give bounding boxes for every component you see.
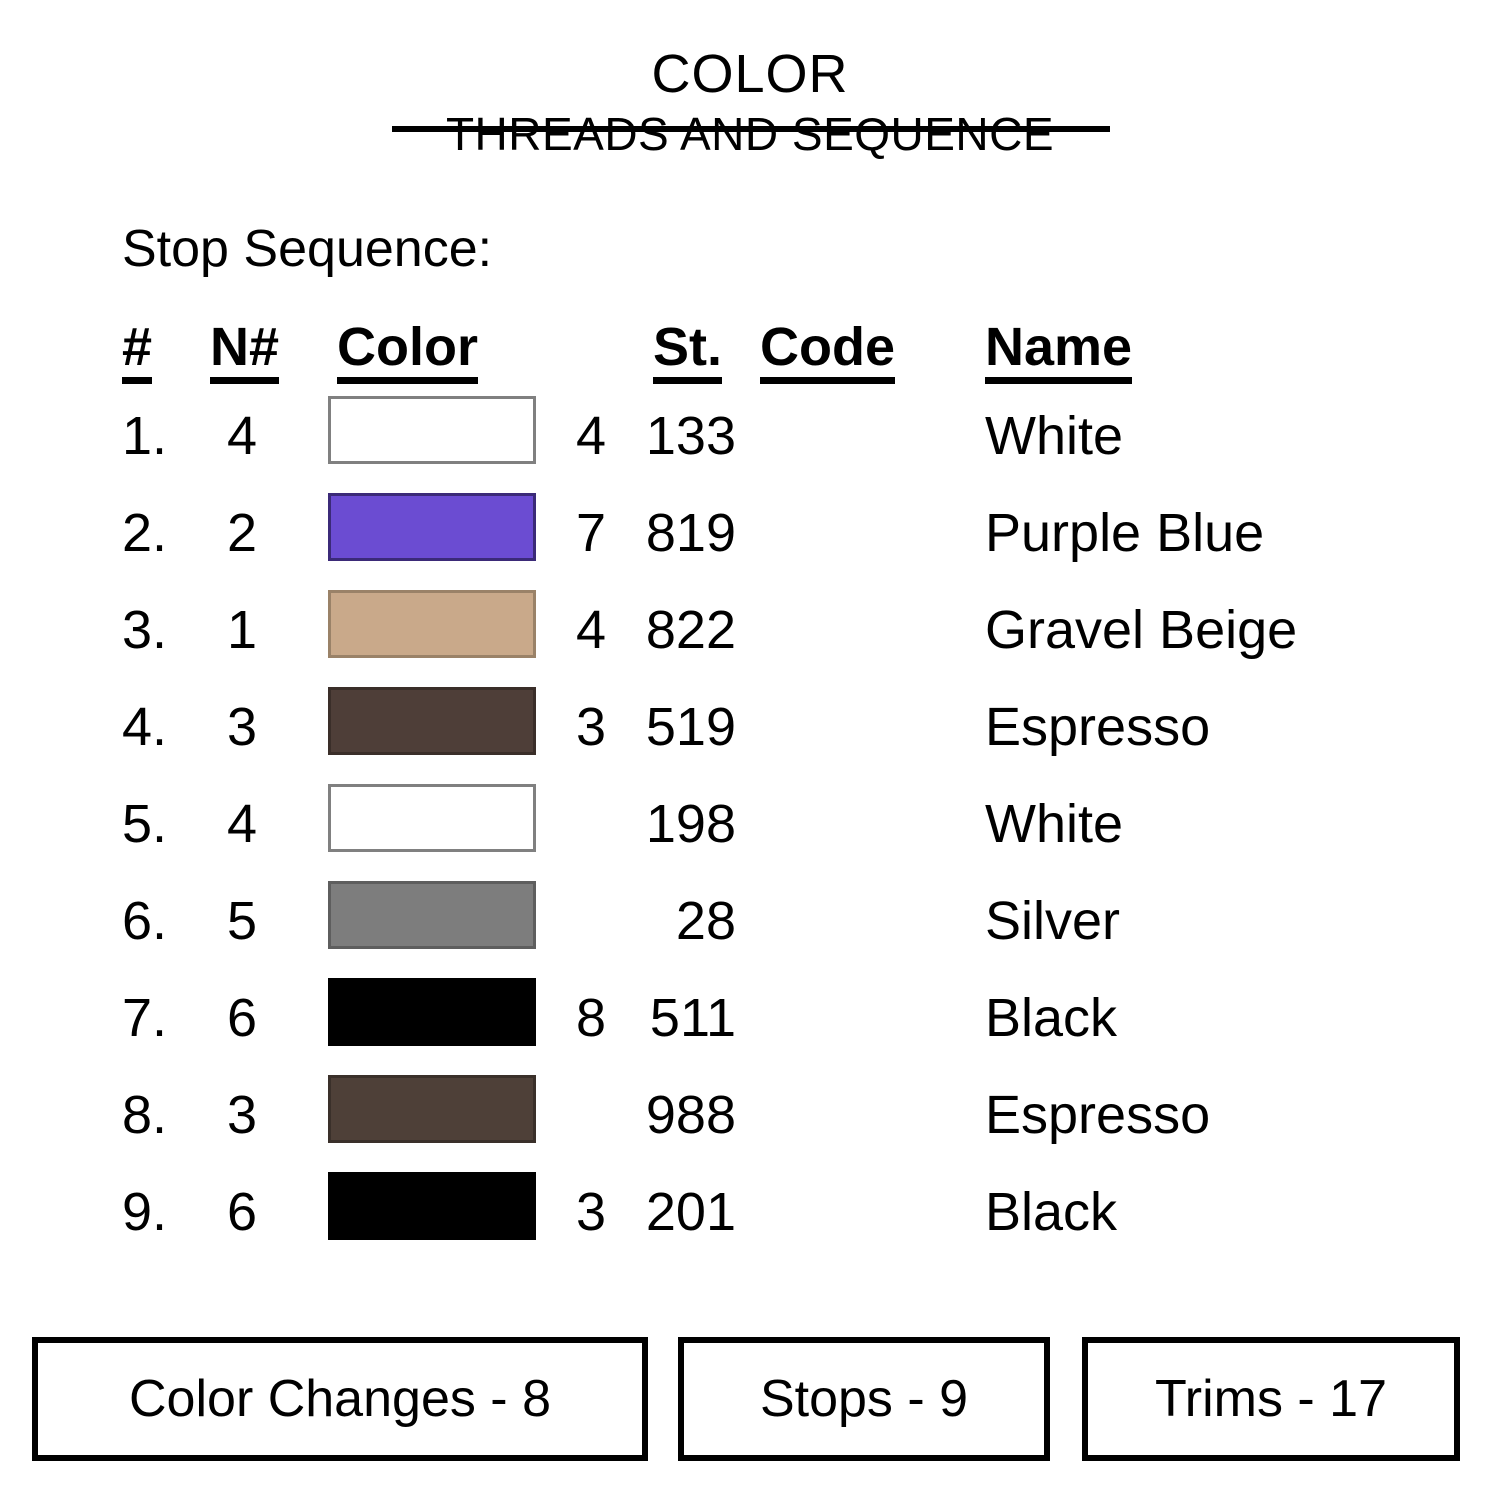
row-thread-code: 28	[560, 887, 736, 955]
row-needle-number: 3	[175, 1081, 257, 1149]
summary-bar: Color Changes - 8 Stops - 9 Trims - 17	[0, 1337, 1500, 1465]
row-color-name: White	[985, 402, 1485, 470]
summary-stops: Stops - 9	[678, 1337, 1050, 1461]
row-color-name: Black	[985, 1178, 1485, 1246]
column-header-needle: N#	[210, 318, 310, 384]
summary-trims: Trims - 17	[1082, 1337, 1460, 1461]
table-body: 1.44133White2.27819Purple Blue3.14822Gra…	[0, 390, 1500, 1263]
row-needle-number: 3	[175, 693, 257, 761]
row-needle-number: 4	[175, 790, 257, 858]
table-row: 9.63201Black	[0, 1166, 1500, 1263]
row-needle-number: 6	[175, 1178, 257, 1246]
table-row: 5.4198White	[0, 778, 1500, 875]
row-thread-code: 519	[560, 693, 736, 761]
row-thread-code: 201	[560, 1178, 736, 1246]
row-thread-code: 988	[560, 1081, 736, 1149]
table-header-row: # N# Color St. Code Name	[0, 318, 1500, 390]
color-swatch	[328, 784, 536, 852]
row-color-name: Espresso	[985, 1081, 1485, 1149]
row-color-name: Gravel Beige	[985, 596, 1485, 664]
row-needle-number: 5	[175, 887, 257, 955]
row-thread-code: 819	[560, 499, 736, 567]
row-thread-code: 133	[560, 402, 736, 470]
row-color-name: Purple Blue	[985, 499, 1485, 567]
row-needle-number: 6	[175, 984, 257, 1052]
column-header-name: Name	[985, 318, 1385, 384]
table-row: 8.3988Espresso	[0, 1069, 1500, 1166]
row-color-name: Black	[985, 984, 1485, 1052]
column-header-code: Code	[760, 318, 960, 384]
thread-sequence-table: # N# Color St. Code Name 1.44133White2.2…	[0, 318, 1500, 1263]
color-threads-sequence-sheet: COLOR THREADS AND SEQUENCE Stop Sequence…	[0, 0, 1500, 1500]
color-swatch	[328, 881, 536, 949]
row-thread-code: 822	[560, 596, 736, 664]
row-color-name: Silver	[985, 887, 1485, 955]
page-subtitle: THREADS AND SEQUENCE	[0, 106, 1500, 162]
stop-sequence-label: Stop Sequence:	[122, 218, 492, 280]
table-row: 2.27819Purple Blue	[0, 487, 1500, 584]
row-needle-number: 1	[175, 596, 257, 664]
column-header-index: #	[122, 318, 182, 384]
row-thread-code: 198	[560, 790, 736, 858]
column-header-stitches: St.	[540, 318, 722, 384]
table-row: 7.68511Black	[0, 972, 1500, 1069]
color-swatch	[328, 1075, 536, 1143]
table-row: 1.44133White	[0, 390, 1500, 487]
table-row: 6.528Silver	[0, 875, 1500, 972]
title-divider	[392, 126, 1110, 132]
document-title-block: COLOR THREADS AND SEQUENCE	[0, 44, 1500, 162]
row-color-name: White	[985, 790, 1485, 858]
page-title: COLOR	[0, 44, 1500, 104]
row-color-name: Espresso	[985, 693, 1485, 761]
table-row: 4.33519Espresso	[0, 681, 1500, 778]
row-thread-code: 511	[560, 984, 736, 1052]
row-needle-number: 4	[175, 402, 257, 470]
summary-color-changes: Color Changes - 8	[32, 1337, 648, 1461]
row-needle-number: 2	[175, 499, 257, 567]
table-row: 3.14822Gravel Beige	[0, 584, 1500, 681]
